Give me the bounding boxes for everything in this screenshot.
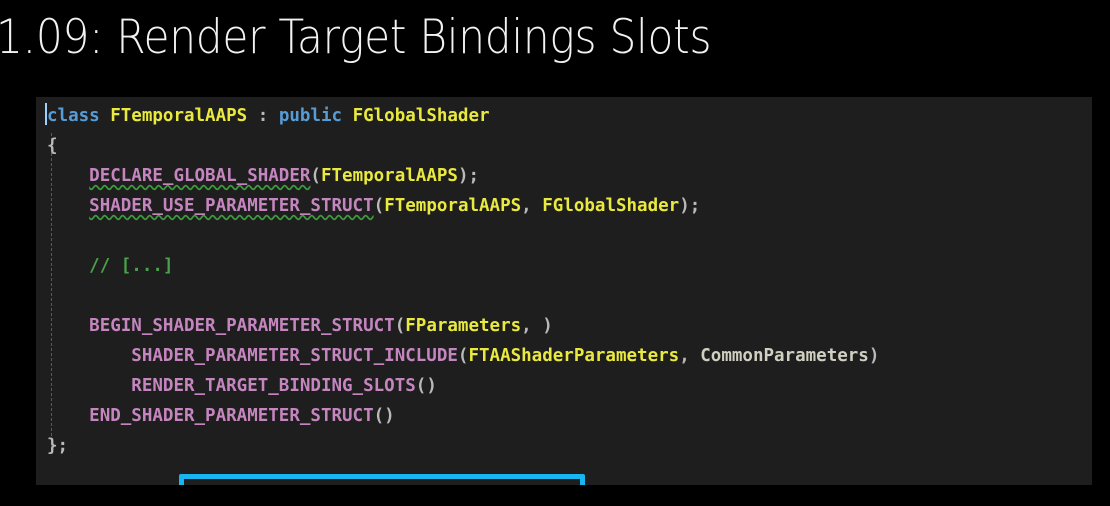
code-line: }; [36,431,1092,461]
code-token [342,106,353,126]
code-token: FTemporalAAPS [384,196,521,216]
code-token: : [247,106,279,126]
code-line [36,221,1092,251]
code-token [47,166,89,186]
code-token: // [...] [89,256,173,276]
code-token: CommonParameters [700,346,869,366]
code-line: SHADER_USE_PARAMETER_STRUCT(FTemporalAAP… [36,191,1092,221]
code-token: ( [395,316,406,336]
code-line: { [36,131,1092,161]
code-token: ); [679,196,700,216]
code-token: FTAAShaderParameters [468,346,679,366]
code-token: BEGIN_SHADER_PARAMETER_STRUCT [89,316,395,336]
code-token: ) [869,346,880,366]
code-token [47,406,89,426]
code-line: // [...] [36,251,1092,281]
code-token: , [679,346,700,366]
page-title: 1.09: Render Target Bindings Slots [0,2,995,74]
code-token: FGlobalShader [542,196,679,216]
code-token: public [279,106,342,126]
code-token [47,346,131,366]
code-token: RENDER_TARGET_BINDING_SLOTS [131,376,415,396]
code-token: ( [374,196,385,216]
code-line: DECLARE_GLOBAL_SHADER(FTemporalAAPS); [36,161,1092,191]
code-token: SHADER_USE_PARAMETER_STRUCT [89,196,373,216]
code-line: class FTemporalAAPS : public FGlobalShad… [36,101,1092,131]
code-token: SHADER_PARAMETER_STRUCT_INCLUDE [131,346,458,366]
code-token [47,256,89,276]
code-token: DECLARE_GLOBAL_SHADER [89,166,310,186]
code-token: , [521,196,542,216]
code-token [47,196,89,216]
code-token [47,376,131,396]
code-token: () [374,406,395,426]
code-token: FParameters [405,316,521,336]
code-line: BEGIN_SHADER_PARAMETER_STRUCT(FParameter… [36,311,1092,341]
code-token: , ) [521,316,553,336]
code-token: FTemporalAAPS [321,166,458,186]
code-token: FGlobalShader [353,106,490,126]
highlight-annotation-box [179,474,585,485]
code-line: RENDER_TARGET_BINDING_SLOTS() [36,371,1092,401]
code-token: END_SHADER_PARAMETER_STRUCT [89,406,373,426]
code-token [100,106,111,126]
code-line [36,281,1092,311]
code-token: ( [458,346,469,366]
code-token: class [47,106,100,126]
code-token: ( [310,166,321,186]
code-line: END_SHADER_PARAMETER_STRUCT() [36,401,1092,431]
code-block: class FTemporalAAPS : public FGlobalShad… [36,97,1092,485]
code-token: { [47,136,58,156]
code-token [47,316,89,336]
code-token: () [416,376,437,396]
code-token: FTemporalAAPS [110,106,247,126]
code-lines: class FTemporalAAPS : public FGlobalShad… [36,101,1092,461]
code-line: SHADER_PARAMETER_STRUCT_INCLUDE(FTAAShad… [36,341,1092,371]
code-token: }; [47,436,68,456]
code-token: ); [458,166,479,186]
